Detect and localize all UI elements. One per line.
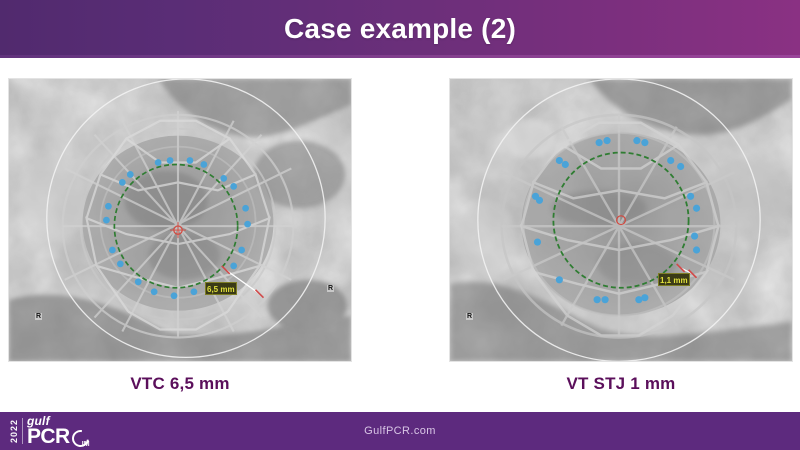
orientation-marker-right-bottom: R: [466, 313, 473, 320]
slide-header: Case example (2): [0, 0, 800, 58]
ct-scan-right-graphic: [450, 79, 792, 361]
logo-im-text: IM: [82, 441, 90, 448]
caption-left: VTC 6,5 mm: [8, 374, 352, 394]
ct-scan-left-graphic: [9, 79, 351, 361]
logo-year: 2022: [10, 419, 19, 443]
logo-pcr-text: PCR: [27, 428, 70, 447]
measurement-label-left: 6,5 mm: [205, 282, 237, 295]
orientation-marker-left-bottom: R: [35, 313, 42, 320]
scan-panel-left: 6,5 mm R R: [8, 78, 352, 362]
caption-right: VT STJ 1 mm: [449, 374, 793, 394]
footer-site-link[interactable]: GulfPCR.com: [364, 425, 436, 437]
gulf-pcr-logo: 2022 gulf PCR IM: [10, 414, 125, 448]
logo-wordmark: gulf PCR IM: [27, 415, 89, 447]
measurement-label-right: 1,1 mm: [658, 273, 690, 286]
logo-pcr-row: PCR IM: [27, 428, 89, 447]
slide: Case example (2): [0, 0, 800, 450]
scan-panel-right: 1,1 mm R: [449, 78, 793, 362]
orientation-marker-left-right: R: [327, 285, 334, 292]
content-area: 6,5 mm R R: [0, 58, 800, 412]
logo-circle-icon: IM: [72, 430, 89, 447]
logo-divider: [22, 418, 23, 444]
ct-image-left: 6,5 mm R R: [8, 78, 352, 362]
ct-image-right: 1,1 mm R: [449, 78, 793, 362]
page-title: Case example (2): [284, 15, 516, 43]
stent-frame-right: [502, 115, 737, 338]
